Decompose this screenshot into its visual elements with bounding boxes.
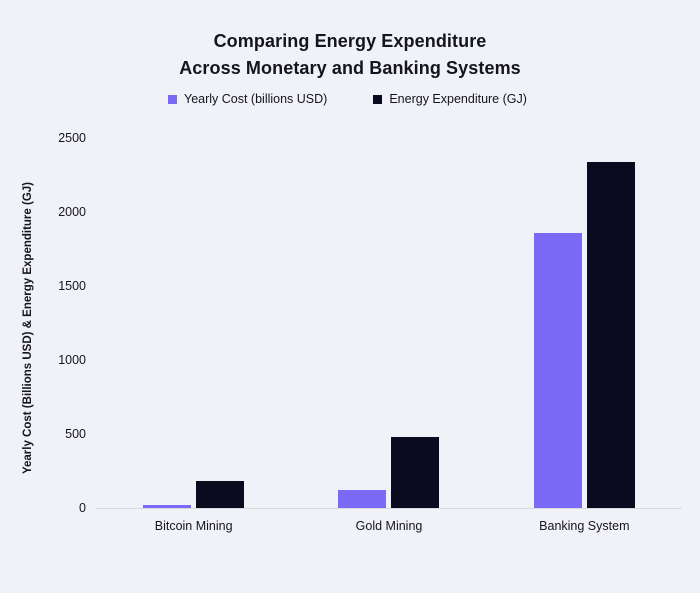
chart-legend: Yearly Cost (billions USD) Energy Expend… bbox=[168, 92, 527, 106]
legend-label-yearly-cost: Yearly Cost (billions USD) bbox=[184, 92, 327, 106]
y-tick-label: 2000 bbox=[26, 205, 86, 219]
bar-yearly-cost[interactable] bbox=[143, 505, 191, 508]
bar-energy-expenditure[interactable] bbox=[587, 162, 635, 508]
legend-item-yearly-cost[interactable]: Yearly Cost (billions USD) bbox=[168, 92, 327, 106]
x-tick-label: Banking System bbox=[539, 519, 629, 533]
legend-label-energy-expenditure: Energy Expenditure (GJ) bbox=[389, 92, 527, 106]
y-tick-label: 1500 bbox=[26, 279, 86, 293]
y-axis-ticks: 25002000150010005000 bbox=[18, 138, 86, 508]
bar-energy-expenditure[interactable] bbox=[196, 481, 244, 508]
chart-title: Comparing Energy Expenditure Across Mone… bbox=[0, 28, 700, 82]
y-tick-label: 500 bbox=[26, 427, 86, 441]
legend-swatch-yearly-cost bbox=[168, 95, 177, 104]
bar-group bbox=[487, 138, 682, 508]
chart-figure: Comparing Energy Expenditure Across Mone… bbox=[0, 0, 700, 593]
bar-group bbox=[291, 138, 486, 508]
legend-swatch-energy-expenditure bbox=[373, 95, 382, 104]
bar-group bbox=[96, 138, 291, 508]
y-tick-label: 1000 bbox=[26, 353, 86, 367]
x-tick-label: Gold Mining bbox=[356, 519, 423, 533]
chart-title-line-1: Comparing Energy Expenditure bbox=[0, 28, 700, 55]
legend-item-energy-expenditure[interactable]: Energy Expenditure (GJ) bbox=[373, 92, 527, 106]
plot-area bbox=[96, 138, 682, 508]
x-axis-line bbox=[96, 508, 682, 509]
bar-yearly-cost[interactable] bbox=[534, 233, 582, 508]
chart-title-line-2: Across Monetary and Banking Systems bbox=[0, 55, 700, 82]
bar-yearly-cost[interactable] bbox=[338, 490, 386, 508]
x-tick-label: Bitcoin Mining bbox=[155, 519, 233, 533]
y-tick-label: 2500 bbox=[26, 131, 86, 145]
bar-energy-expenditure[interactable] bbox=[391, 437, 439, 508]
y-tick-label: 0 bbox=[26, 501, 86, 515]
